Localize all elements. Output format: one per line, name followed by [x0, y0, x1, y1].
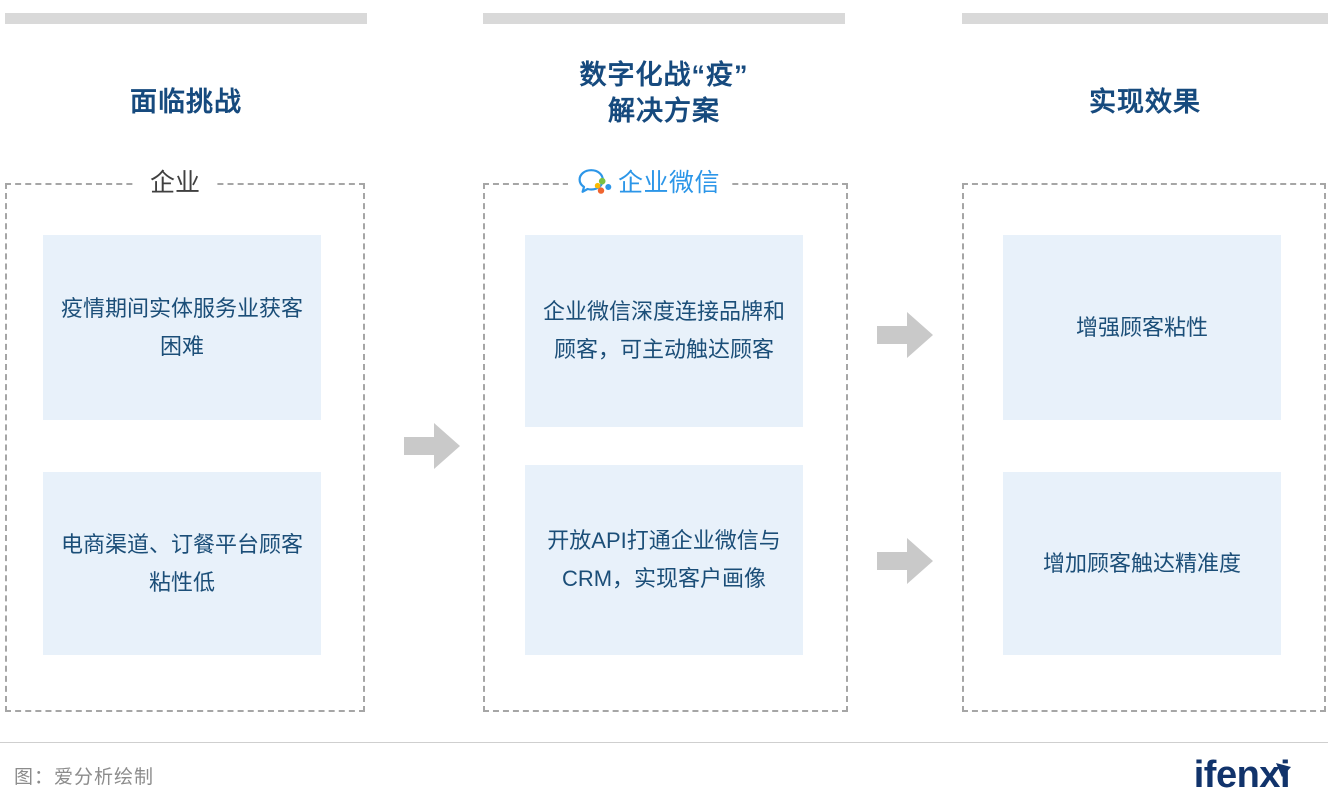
column-title-solution-line2: 解决方案 [483, 93, 845, 129]
card-effect-2: 增加顾客触达精准度 [1003, 472, 1281, 655]
card-effect-1: 增强顾客粘性 [1003, 235, 1281, 420]
card-effect-2-text: 增加顾客触达精准度 [1015, 545, 1269, 583]
card-solution-2-text: 开放API打通企业微信与CRM，实现客户画像 [537, 522, 791, 598]
group-label-enterprise: 企业 [136, 164, 214, 202]
card-effect-1-text: 增强顾客粘性 [1015, 309, 1269, 347]
footer-source-note: 图：爱分析绘制 [14, 762, 154, 789]
card-challenge-1: 疫情期间实体服务业获客困难 [43, 235, 321, 420]
card-challenge-2-text: 电商渠道、订餐平台顾客粘性低 [55, 526, 309, 602]
wechat-work-bubble-icon [578, 168, 612, 198]
card-challenge-2: 电商渠道、订餐平台顾客粘性低 [43, 472, 321, 655]
top-accent-bar-solution [483, 13, 845, 24]
card-solution-1-text: 企业微信深度连接品牌和顾客，可主动触达顾客 [537, 293, 791, 369]
arrow-right-icon-solution-to-effect-top [877, 312, 933, 358]
top-accent-bar-effect [962, 13, 1328, 24]
column-title-solution: 数字化战“疫” 解决方案 [483, 57, 845, 129]
arrow-right-icon-challenge-to-solution [404, 423, 460, 469]
group-label-wechat-work: 企业微信 [568, 164, 730, 202]
column-title-challenge: 面临挑战 [5, 84, 367, 120]
brand-logo-ifenxi: ifenxi [1194, 752, 1290, 794]
column-title-effect: 实现效果 [962, 84, 1328, 120]
group-label-wechat-work-text: 企业微信 [618, 164, 720, 202]
brand-arrow-icon [1274, 747, 1292, 763]
arrow-right-icon-solution-to-effect-bottom [877, 538, 933, 584]
footer-divider [0, 742, 1328, 743]
card-solution-1: 企业微信深度连接品牌和顾客，可主动触达顾客 [525, 235, 803, 427]
card-challenge-1-text: 疫情期间实体服务业获客困难 [55, 290, 309, 366]
brand-logo-text: ifenxi [1194, 756, 1290, 794]
column-title-solution-line1: 数字化战“疫” [483, 57, 845, 93]
card-solution-2: 开放API打通企业微信与CRM，实现客户画像 [525, 465, 803, 655]
top-accent-bar-challenge [5, 13, 367, 24]
